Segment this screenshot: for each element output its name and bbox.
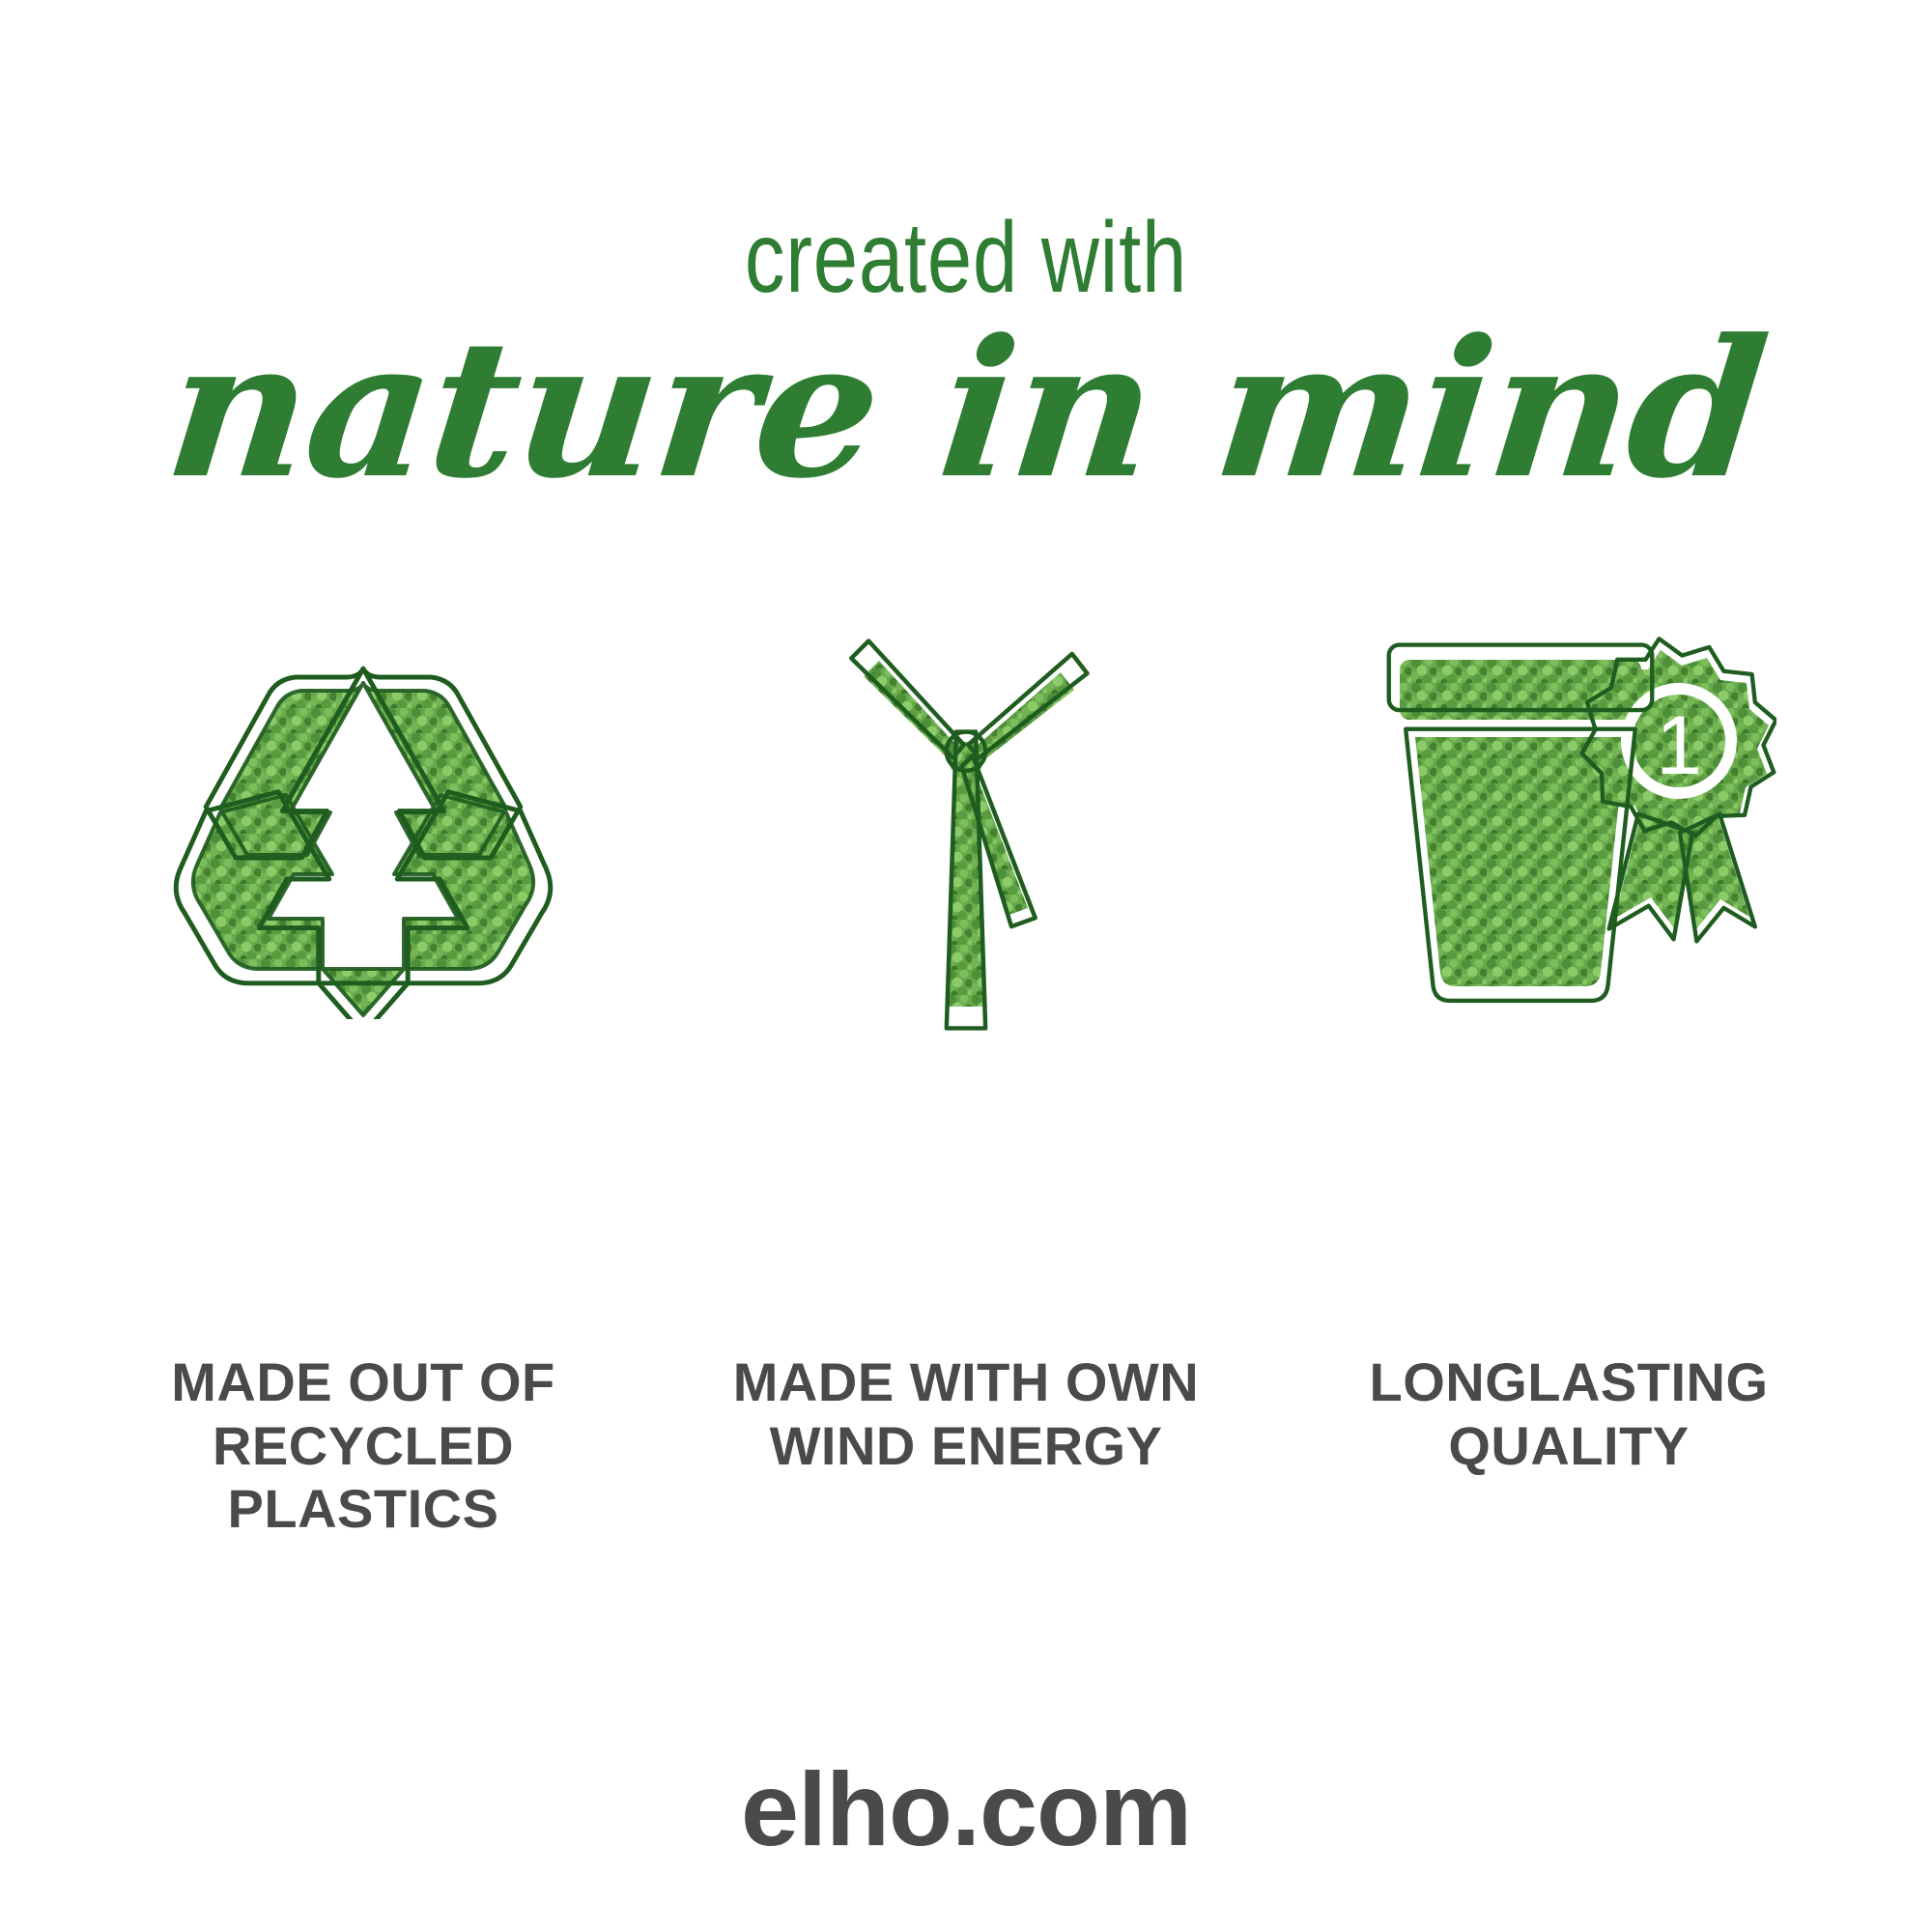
feature-icon-row: 1 bbox=[0, 599, 1932, 1053]
feature-label-quality: LONGLASTING QUALITY bbox=[1298, 1350, 1839, 1541]
recycling-symbol-icon bbox=[160, 633, 566, 1019]
feature-label-wind-line-1: MADE WITH OWN bbox=[733, 1351, 1199, 1412]
feature-icon-cell-quality: 1 bbox=[1298, 599, 1839, 1053]
feature-icon-cell-wind bbox=[696, 599, 1236, 1053]
medal-number: 1 bbox=[1656, 699, 1702, 792]
feature-label-quality-line-2: QUALITY bbox=[1298, 1414, 1839, 1478]
footer: elho.com bbox=[0, 1748, 1932, 1869]
headline-block: created with nature in mind bbox=[0, 208, 1932, 507]
feature-label-wind-line-2: WIND ENERGY bbox=[696, 1414, 1236, 1478]
feature-label-recycling: MADE OUT OF RECYCLED PLASTICS bbox=[93, 1350, 634, 1541]
headline-line-1: created with bbox=[193, 208, 1739, 308]
headline-line-2: nature in mind bbox=[0, 314, 1932, 507]
feature-label-quality-line-1: LONGLASTING bbox=[1369, 1351, 1768, 1412]
website-link[interactable]: elho.com bbox=[741, 1750, 1191, 1867]
feature-label-recycling-line-2: RECYCLED PLASTICS bbox=[93, 1414, 634, 1541]
feature-label-recycling-line-1: MADE OUT OF bbox=[171, 1351, 554, 1412]
feature-label-row: MADE OUT OF RECYCLED PLASTICS MADE WITH … bbox=[0, 1350, 1932, 1541]
poster-canvas: created with nature in mind bbox=[0, 0, 1932, 1932]
feature-label-wind: MADE WITH OWN WIND ENERGY bbox=[696, 1350, 1236, 1541]
feature-icon-cell-recycling bbox=[93, 599, 634, 1053]
wind-turbine-icon bbox=[821, 618, 1111, 1034]
flower-pot-award-icon: 1 bbox=[1361, 633, 1776, 1019]
